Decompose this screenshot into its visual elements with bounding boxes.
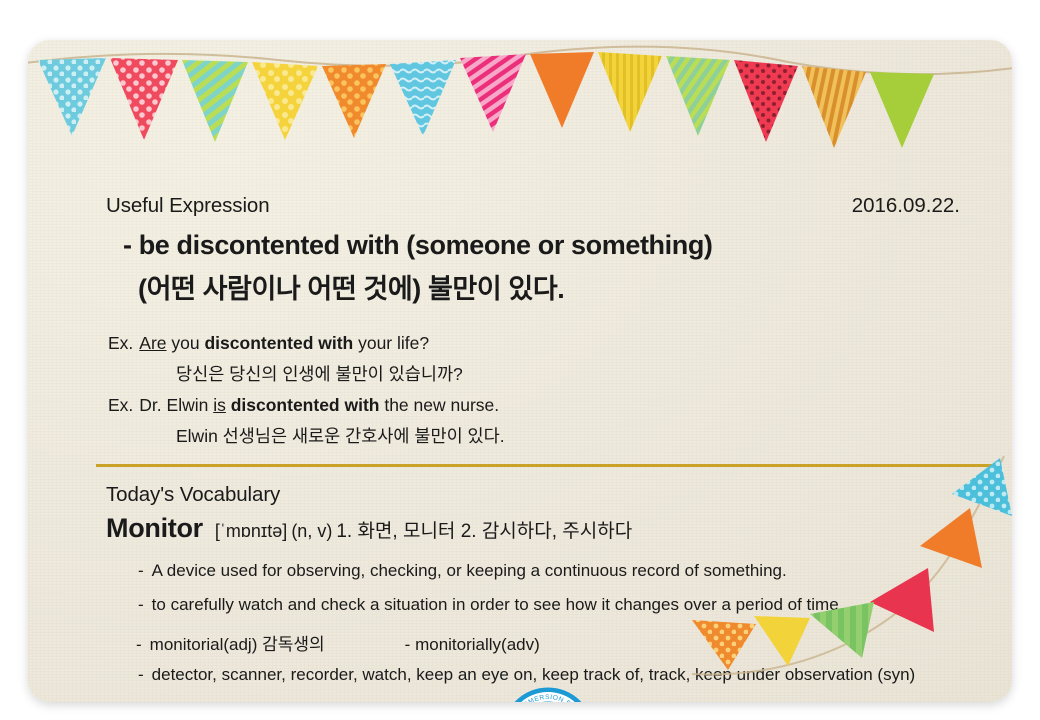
example-lead-text: Dr. Elwin xyxy=(139,395,213,415)
example-korean-1: 당신은 당신의 인생에 불만이 있습니까? xyxy=(176,366,463,384)
vocabulary-ipa: [ˈmɒnɪtə] xyxy=(215,521,287,541)
expression-korean: (어떤 사람이나 어떤 것에) 불만이 있다. xyxy=(138,267,564,306)
example-bold-phrase: discontented with xyxy=(204,333,353,353)
party-bunting-top xyxy=(28,40,1012,160)
example-tag: Ex. xyxy=(108,395,133,415)
example-text-after: the new nurse. xyxy=(379,395,499,415)
example-korean-2: Elwin 선생님은 새로운 간호사에 불만이 있다. xyxy=(176,428,505,446)
example-tag: Ex. xyxy=(108,333,133,353)
bullet-dash: - xyxy=(405,635,411,654)
definition-line-1: -A device used for observing, checking, … xyxy=(138,561,787,581)
example-text-after: your life? xyxy=(353,333,429,353)
vocabulary-korean-meanings: 1. 화면, 모니터 2. 감시하다, 주시하다 xyxy=(336,521,632,542)
bullet-dash: - xyxy=(138,595,144,614)
slide-date: 2016.09.22. xyxy=(852,194,960,218)
section-label-todays-vocabulary: Today's Vocabulary xyxy=(106,483,280,507)
derivative-adjective: monitorial(adj) 감독생의 xyxy=(150,635,325,654)
definition-line-2: -to carefully watch and check a situatio… xyxy=(138,595,839,615)
section-divider xyxy=(96,464,996,467)
example-sentence-2: Ex.Dr. Elwin is discontented with the ne… xyxy=(108,397,505,445)
derivative-adverb: monitorially(adv) xyxy=(415,635,540,654)
example-underlined-word: is xyxy=(213,395,226,415)
slide-card: Useful Expression 2016.09.22. - be disco… xyxy=(28,40,1012,702)
definition-text-2: to carefully watch and check a situation… xyxy=(152,595,839,614)
vocabulary-headline: Monitor[ˈmɒnɪtə](n, v)1. 화면, 모니터 2. 감시하다… xyxy=(106,513,632,544)
eid-logo: ENGLISH IMMERSION DORMITORY DONGYANG UNI… xyxy=(502,687,594,702)
synonyms-text: detector, scanner, recorder, watch, keep… xyxy=(152,665,916,684)
bullet-dash: - xyxy=(138,665,144,684)
vocabulary-part-of-speech: (n, v) xyxy=(291,521,332,541)
example-sentence-1: Ex.Are you discontented with your life? … xyxy=(108,335,463,383)
section-label-useful-expression: Useful Expression xyxy=(106,194,270,218)
bullet-dash: - xyxy=(136,635,142,654)
example-underlined-word: Are xyxy=(139,333,166,353)
derivatives-line: -monitorial(adj) 감독생의- monitorially(adv) xyxy=(136,630,540,655)
expression-english: - be discontented with (someone or somet… xyxy=(123,230,713,261)
example-bold-phrase: discontented with xyxy=(231,395,380,415)
vocabulary-word: Monitor xyxy=(106,513,203,543)
definition-text-1: A device used for observing, checking, o… xyxy=(152,561,787,580)
bullet-dash: - xyxy=(138,561,144,580)
example-text-before: you xyxy=(167,333,205,353)
synonyms-line: -detector, scanner, recorder, watch, kee… xyxy=(138,665,915,685)
